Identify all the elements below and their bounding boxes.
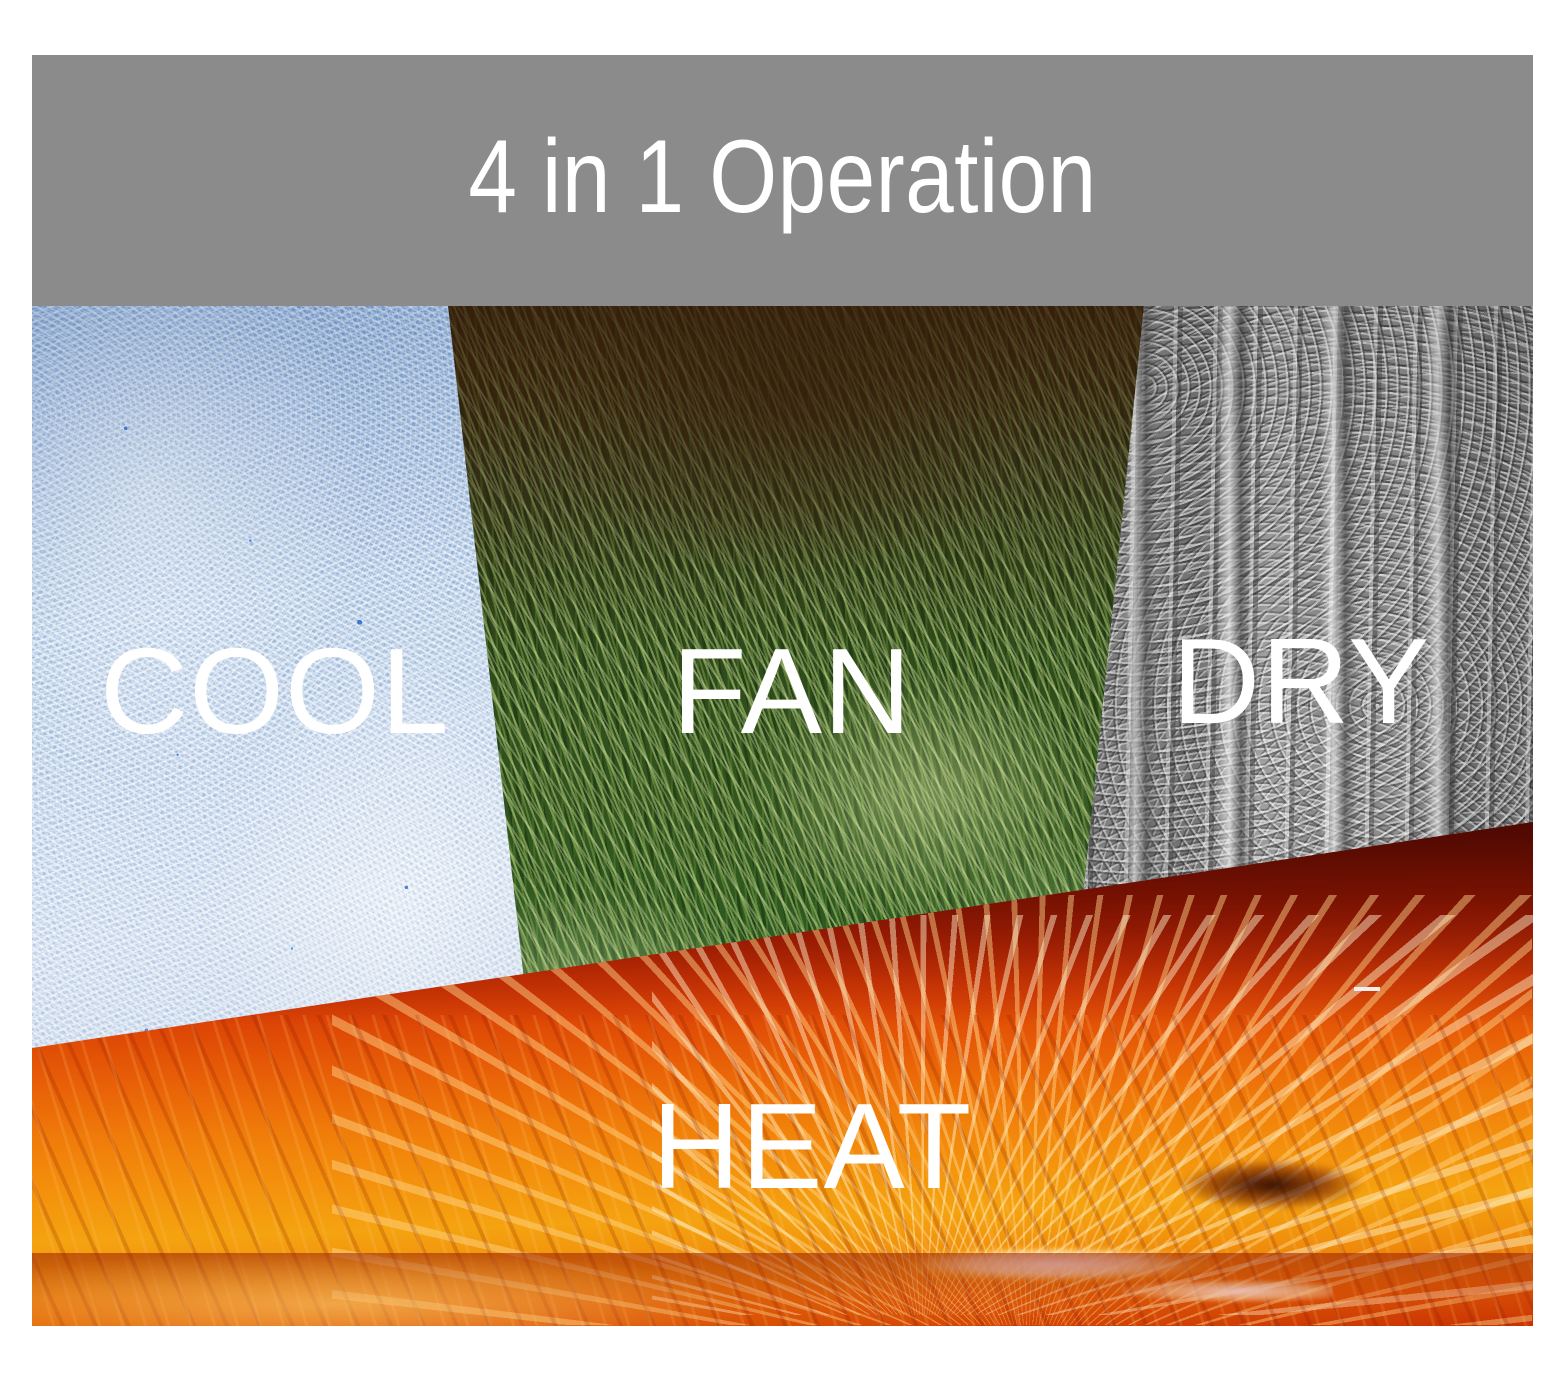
page-root: 4 in 1 Operation COOL FAN DRY HEAT [0,0,1564,1390]
mode-label-dry: DRY [1172,620,1430,742]
light-streak-artifact [1354,987,1380,991]
grass-top-shadow [436,306,1176,643]
solar-bright-lower-glow [32,1235,932,1326]
mode-label-heat: HEAT [652,1085,972,1207]
mode-label-cool: COOL [100,630,450,752]
four-in-one-operation-graphic: 4 in 1 Operation COOL FAN DRY HEAT [32,55,1533,1326]
page-title: 4 in 1 Operation [152,55,1413,306]
mode-label-fan: FAN [672,630,912,752]
header-band: 4 in 1 Operation [32,55,1533,306]
